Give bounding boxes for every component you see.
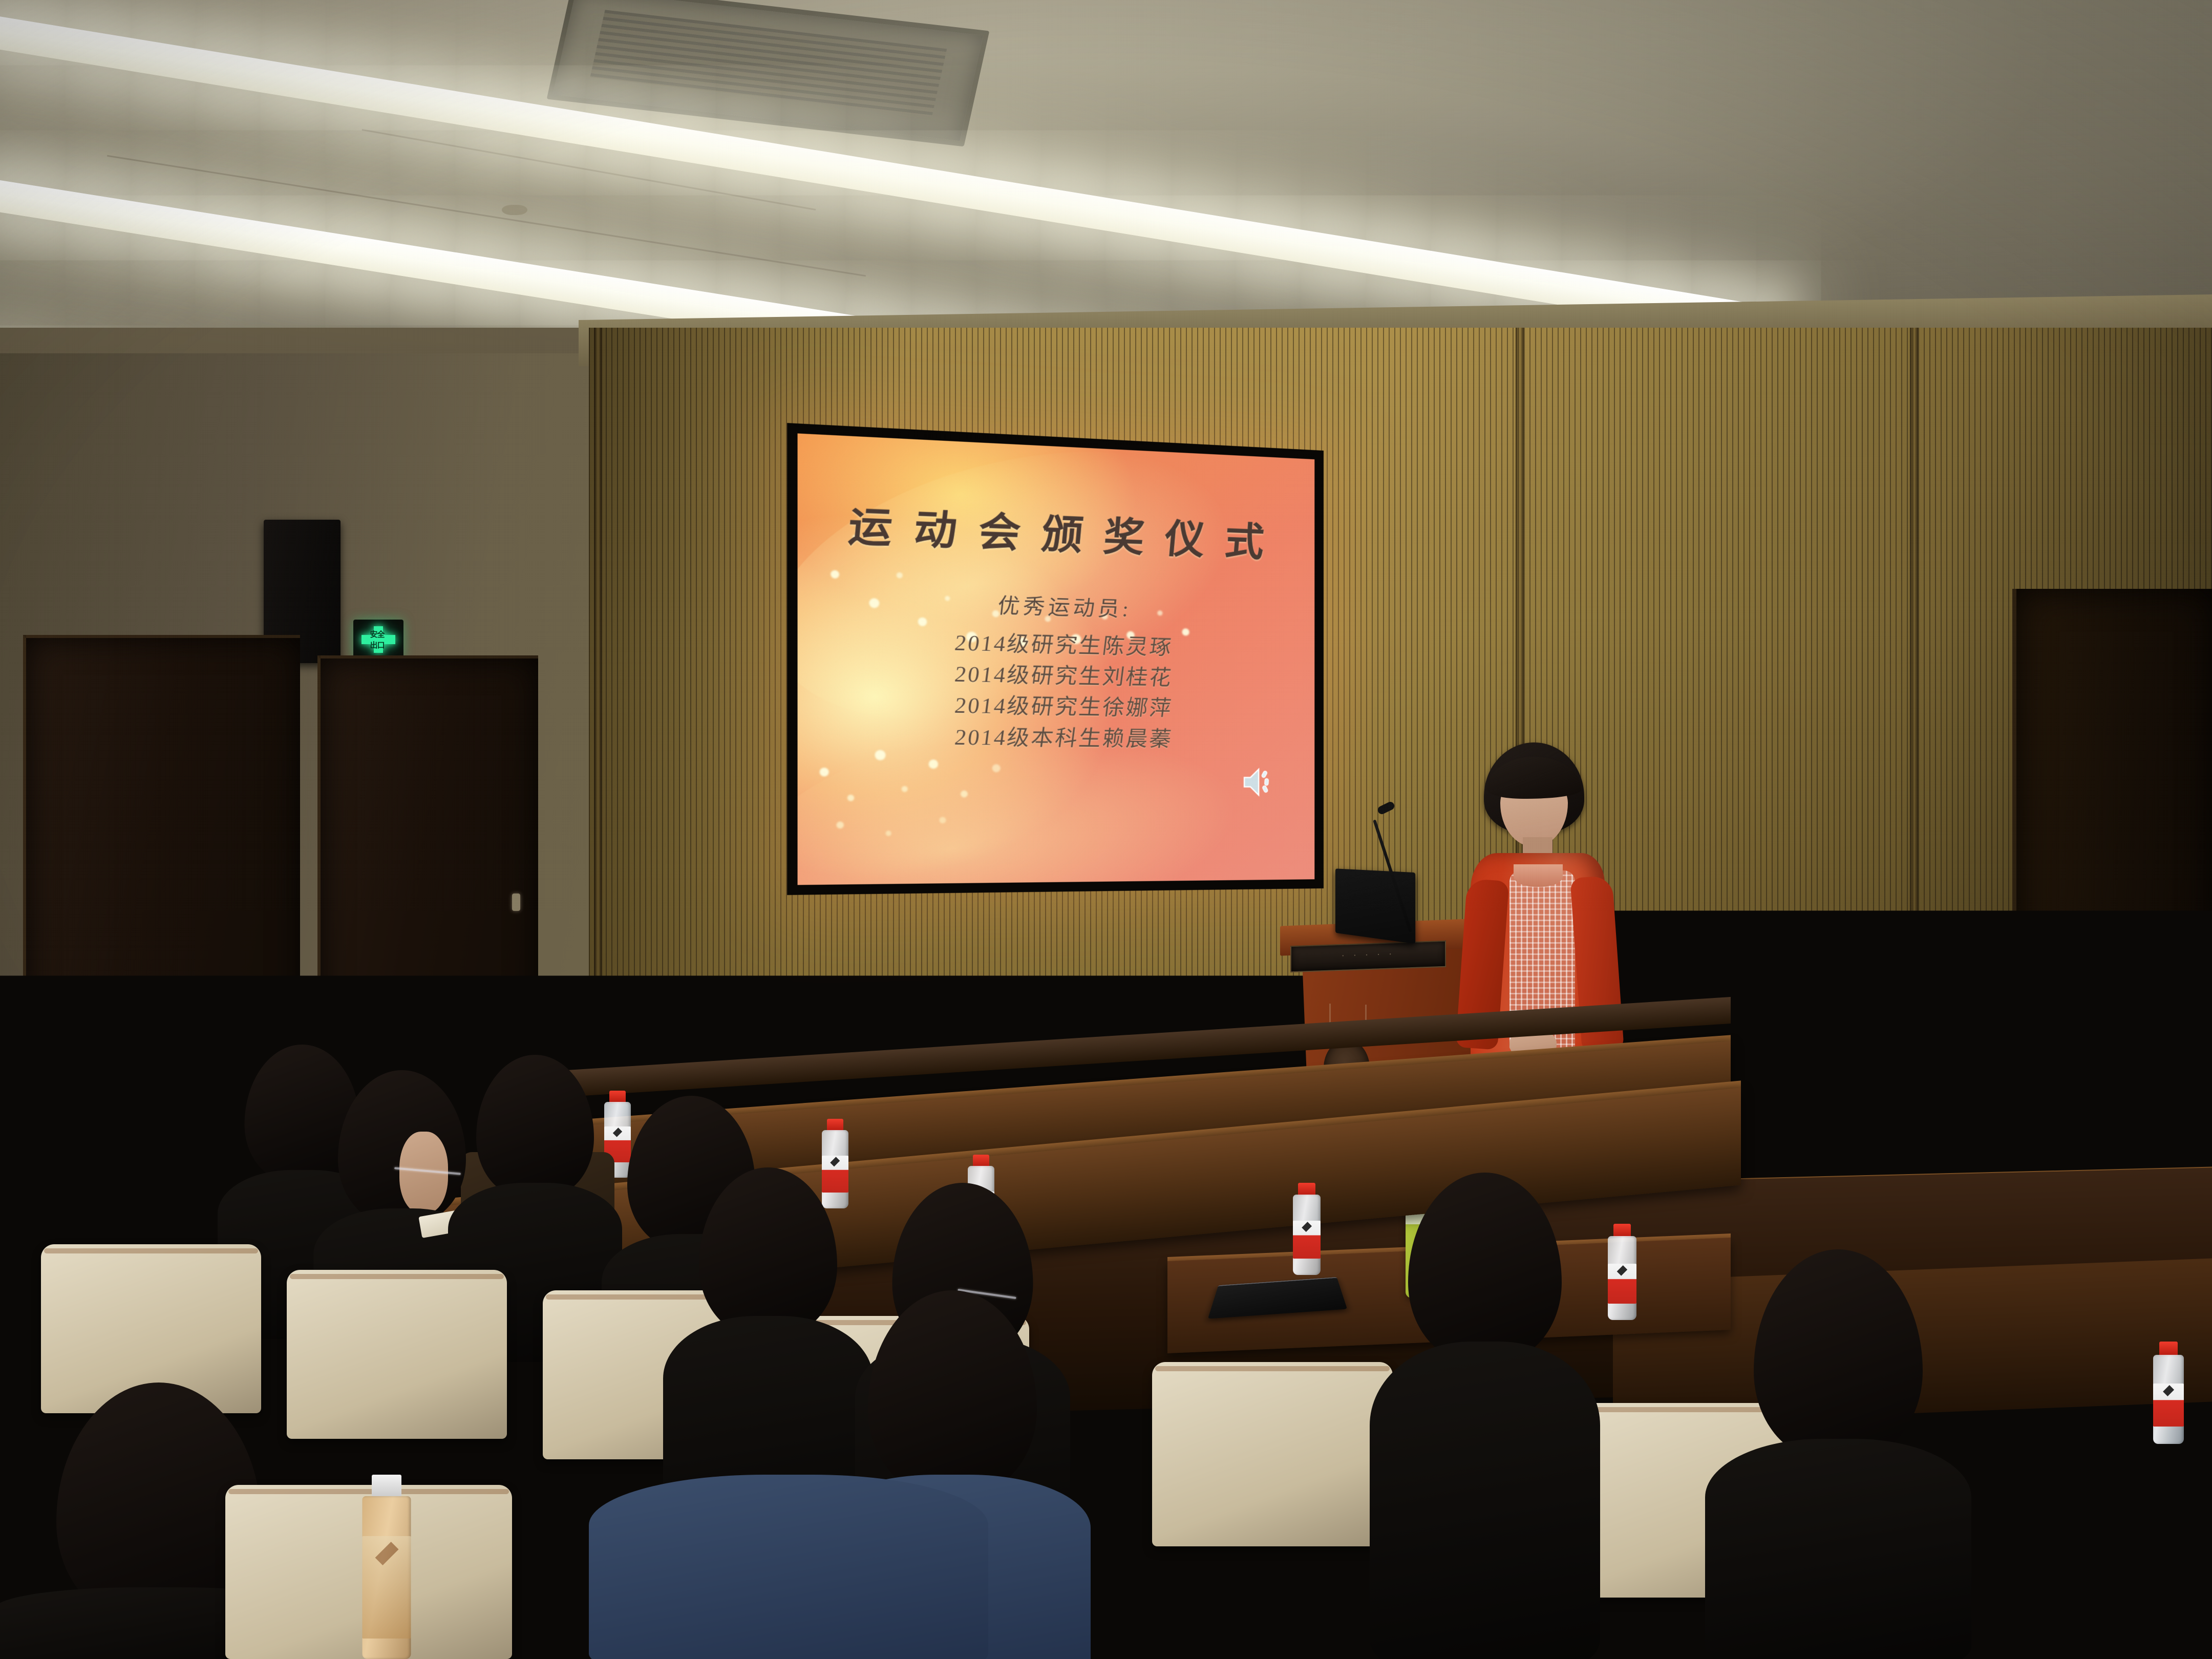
audience-member	[594, 1475, 983, 1659]
ceiling-seam	[107, 155, 866, 277]
fluorescent-strip-light	[0, 0, 1770, 338]
beverage-bottle[interactable]	[358, 1475, 415, 1659]
podium-nameplate: · · · · ·	[1290, 941, 1446, 973]
water-bottle[interactable]	[2151, 1342, 2186, 1444]
water-bottle[interactable]	[1605, 1224, 1639, 1320]
chair[interactable]	[287, 1270, 507, 1439]
emergency-exit-sign: 安全出口	[353, 620, 403, 660]
smoke-detector-icon	[502, 205, 527, 215]
slide-title: 运 动 会 颁 奖 仪 式	[798, 491, 1315, 569]
chair[interactable]	[1152, 1362, 1393, 1546]
auditorium-scene: 安全出口	[0, 0, 2212, 1659]
emergency-exit-cross-icon: 安全出口	[361, 626, 395, 653]
water-bottle[interactable]	[1290, 1183, 1323, 1275]
slide-subtitle: 优秀运动员:	[798, 582, 1315, 627]
presentation-slide: 运 动 会 颁 奖 仪 式 优秀运动员: 2014级研究生陈灵琢 2014级研究…	[798, 433, 1315, 885]
hvac-ceiling-vent	[547, 0, 990, 146]
podium-nameplate-text: · · · · ·	[1291, 942, 1445, 969]
slide-list-item: 2014级本科生赖晨蓁	[798, 719, 1315, 755]
slide-footer	[798, 866, 1315, 870]
speaker-icon[interactable]	[1241, 766, 1275, 798]
ceiling-seam	[362, 129, 816, 210]
chair[interactable]	[1864, 1480, 2171, 1659]
right-door[interactable]	[2012, 589, 2212, 1193]
presenter-collar	[1514, 864, 1563, 887]
audience-member	[1372, 1173, 1598, 1659]
wall-panel-seam	[1910, 328, 1918, 1208]
door-handle-icon[interactable]	[512, 894, 520, 911]
exit-sign-label: 安全出口	[370, 629, 387, 650]
slide-award-list: 2014级研究生陈灵琢 2014级研究生刘桂花 2014级研究生徐娜萍 2014…	[798, 623, 1315, 755]
projection-screen[interactable]: 运 动 会 颁 奖 仪 式 优秀运动员: 2014级研究生陈灵琢 2014级研究…	[787, 423, 1324, 895]
